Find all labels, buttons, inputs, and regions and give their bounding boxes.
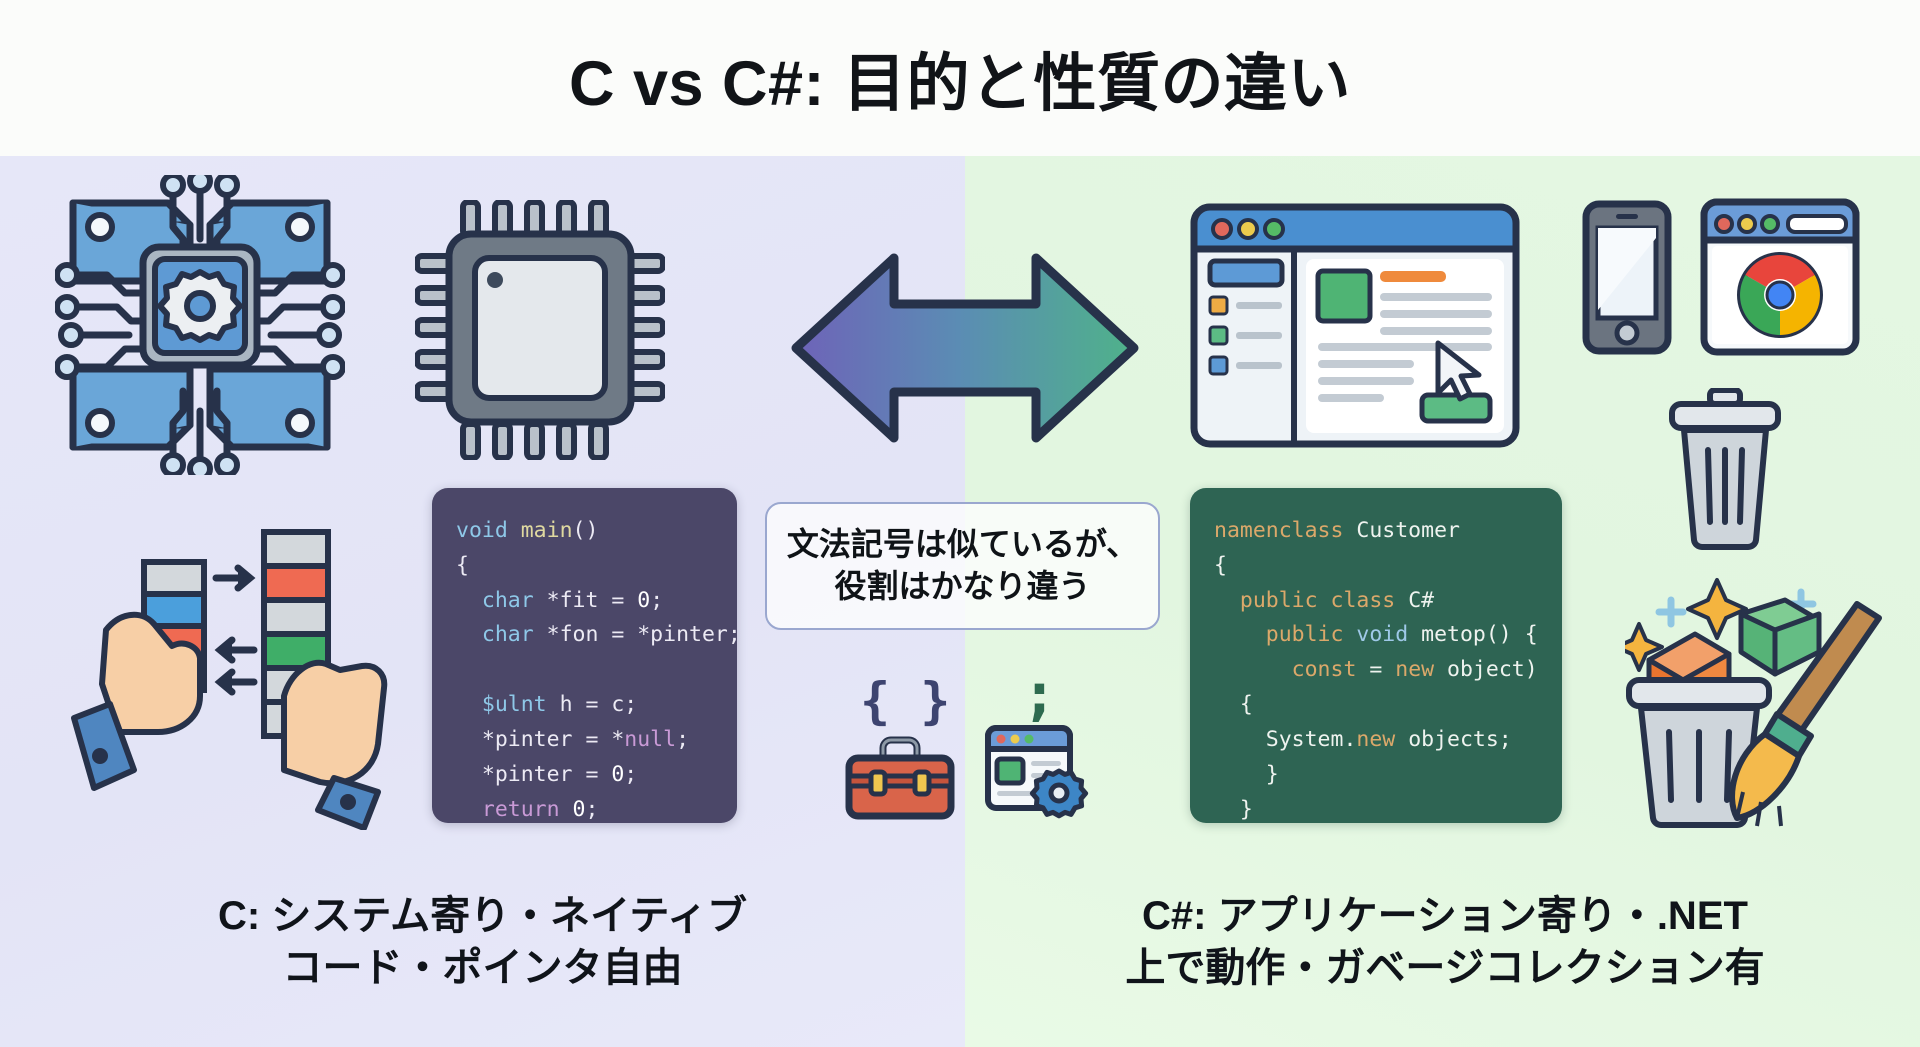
csharp-code-block: namenclass Customer { public class C# pu… xyxy=(1190,488,1562,823)
callout-line2: 役割はかなり違う xyxy=(834,566,1090,608)
hands-memory-pointer-icon xyxy=(48,510,408,830)
page-title: C vs C#: 目的と性質の違い xyxy=(569,33,1351,124)
smartphone-icon xyxy=(1582,200,1672,355)
callout-line1: 文法記号は似ているが、 xyxy=(787,524,1138,566)
braces-symbol: { } xyxy=(860,672,950,730)
window-gear-icon xyxy=(985,725,1090,823)
circuit-board-gear-icon xyxy=(55,175,345,475)
infographic-canvas: C vs C#: 目的と性質の違い xyxy=(0,0,1920,1047)
left-caption-line2: コード・ポインタ自由 xyxy=(30,942,935,994)
right-caption: C#: アプリケーション寄り・.NET 上で動作・ガベージコレクション有 xyxy=(980,890,1910,994)
desktop-app-window-icon xyxy=(1190,203,1520,448)
bidirectional-arrow xyxy=(790,252,1140,444)
cpu-chip-icon xyxy=(415,200,665,460)
left-caption-line1: C: システム寄り・ネイティブ xyxy=(30,890,935,942)
right-caption-line1: C#: アプリケーション寄り・.NET xyxy=(980,890,1910,942)
header-band: C vs C#: 目的と性質の違い xyxy=(0,0,1920,156)
left-caption: C: システム寄り・ネイティブ コード・ポインタ自由 xyxy=(30,890,935,994)
garbage-collection-icon xyxy=(1625,562,1905,832)
right-caption-line2: 上で動作・ガベージコレクション有 xyxy=(980,942,1910,994)
semicolon-symbol: ; xyxy=(1022,660,1057,728)
c-code-block: void main() { char *fit = 0; char *fon =… xyxy=(432,488,737,823)
toolbox-icon xyxy=(845,730,955,822)
trash-can-icon xyxy=(1660,388,1790,553)
center-callout: 文法記号は似ているが、 役割はかなり違う xyxy=(765,502,1160,630)
browser-chrome-icon xyxy=(1700,198,1860,356)
